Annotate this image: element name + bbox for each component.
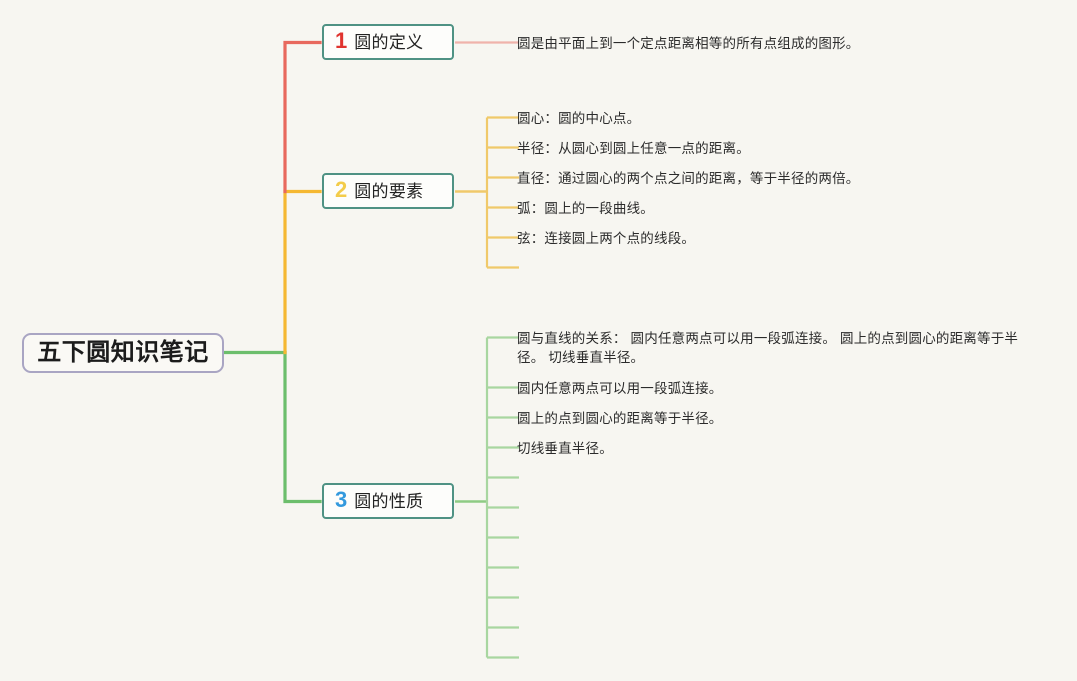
leaf-1-1[interactable]: 圆是由平面上到一个定点距离相等的所有点组成的图形。 bbox=[517, 34, 860, 53]
branch-1-title: 圆的定义 bbox=[354, 34, 423, 51]
branch-2-number: 2 bbox=[335, 179, 347, 201]
branch-node-1[interactable]: 1 圆的定义 bbox=[322, 24, 454, 60]
leaf-2-1[interactable]: 圆心：圆的中心点。 bbox=[517, 109, 640, 128]
branch-node-2[interactable]: 2 圆的要素 bbox=[322, 173, 454, 209]
branch-3-number: 3 bbox=[335, 489, 347, 511]
leaf-3-4[interactable]: 切线垂直半径。 bbox=[517, 439, 613, 458]
branch-3-title: 圆的性质 bbox=[354, 493, 423, 510]
mindmap-canvas[interactable]: 五下圆知识笔记 1 圆的定义 2 圆的要素 3 圆的性质 圆是由平面上到一个定点… bbox=[0, 0, 1077, 681]
node-layer: 五下圆知识笔记 1 圆的定义 2 圆的要素 3 圆的性质 圆是由平面上到一个定点… bbox=[0, 0, 1077, 681]
leaf-3-3[interactable]: 圆上的点到圆心的距离等于半径。 bbox=[517, 409, 723, 428]
leaf-2-3[interactable]: 直径：通过圆心的两个点之间的距离，等于半径的两倍。 bbox=[517, 169, 860, 188]
branch-2-title: 圆的要素 bbox=[354, 183, 423, 200]
root-node[interactable]: 五下圆知识笔记 bbox=[22, 333, 224, 373]
branch-node-3[interactable]: 3 圆的性质 bbox=[322, 483, 454, 519]
leaf-2-2[interactable]: 半径：从圆心到圆上任意一点的距离。 bbox=[517, 139, 750, 158]
leaf-3-2[interactable]: 圆内任意两点可以用一段弧连接。 bbox=[517, 379, 723, 398]
leaf-2-4[interactable]: 弧：圆上的一段曲线。 bbox=[517, 199, 654, 218]
leaf-3-1[interactable]: 圆与直线的关系： 圆内任意两点可以用一段弧连接。 圆上的点到圆心的距离等于半径。… bbox=[517, 329, 1027, 367]
leaf-2-5[interactable]: 弦：连接圆上两个点的线段。 bbox=[517, 229, 695, 248]
branch-1-number: 1 bbox=[335, 30, 347, 52]
root-node-label: 五下圆知识笔记 bbox=[37, 341, 209, 365]
